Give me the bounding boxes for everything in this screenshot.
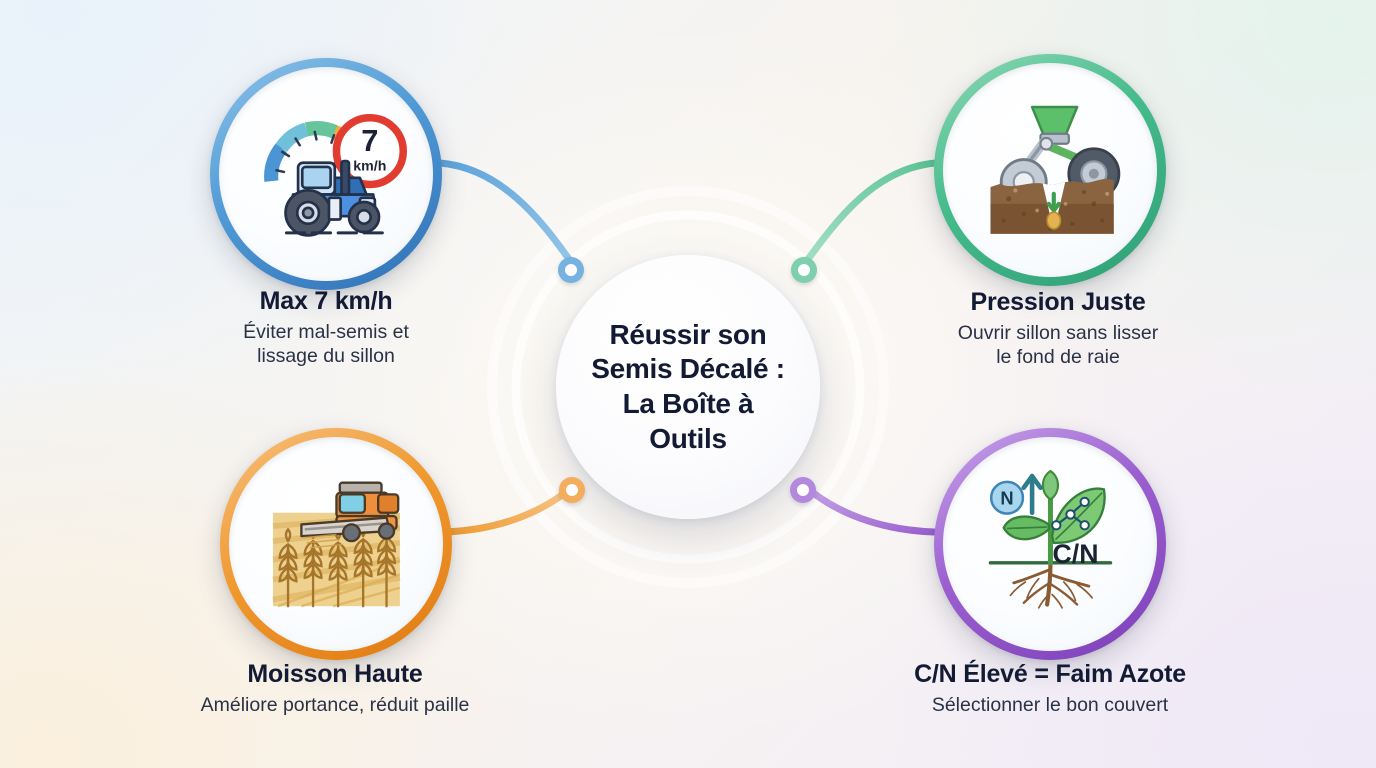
node-subtitle: Éviter mal-semis et lissage du sillon: [156, 320, 496, 369]
label-pression-juste: Pression Juste Ouvrir sillon sans lisser…: [888, 288, 1228, 370]
node-subtitle-line: Améliore portance, réduit paille: [160, 693, 510, 717]
node-ring-inner: [229, 437, 443, 651]
connector-node-dot: [566, 484, 578, 496]
node-cn-eleve[interactable]: N C/N: [934, 428, 1166, 660]
connector-node-dot: [565, 264, 577, 276]
plant-roots-cn-icon: N C/N: [967, 461, 1134, 628]
connector-node-top-right: [791, 257, 817, 283]
node-subtitle: Ouvrir sillon sans lisser le fond de rai…: [888, 321, 1228, 370]
node-ring-blue: 7 km/h: [210, 58, 442, 290]
node-ring-green: [934, 54, 1166, 286]
node-subtitle-line: Ouvrir sillon sans lisser: [888, 321, 1228, 345]
node-title: C/N Élevé = Faim Azote: [875, 660, 1225, 688]
node-subtitle: Améliore portance, réduit paille: [160, 693, 510, 717]
connector-node-bottom-right: [790, 477, 816, 503]
node-subtitle-line: Sélectionner le bon couvert: [875, 693, 1225, 717]
label-max-7-kmh: Max 7 km/h Éviter mal-semis et lissage d…: [156, 287, 496, 369]
nitrogen-badge-letter: N: [1000, 487, 1013, 508]
node-ring-purple: N C/N: [934, 428, 1166, 660]
node-title: Moisson Haute: [160, 660, 510, 688]
cn-ratio-label: C/N: [1052, 538, 1098, 568]
seed-drill-furrow-icon: [967, 87, 1134, 254]
node-subtitle: Sélectionner le bon couvert: [875, 693, 1225, 717]
infographic-canvas: Réussir son Semis Décalé : La Boîte à Ou…: [0, 0, 1376, 768]
node-title: Max 7 km/h: [156, 287, 496, 315]
connector-node-dot: [797, 484, 809, 496]
node-ring-orange: [220, 428, 452, 660]
connector-node-bottom-left: [559, 477, 585, 503]
node-ring-inner: 7 km/h: [219, 67, 433, 281]
node-title: Pression Juste: [888, 288, 1228, 316]
center-title: Réussir son Semis Décalé : La Boîte à Ou…: [591, 318, 784, 457]
label-cn-eleve: C/N Élevé = Faim Azote Sélectionner le b…: [875, 660, 1225, 717]
node-pression-juste[interactable]: [934, 54, 1166, 286]
connector-node-dot: [798, 264, 810, 276]
node-moisson-haute[interactable]: [220, 428, 452, 660]
combine-harvester-wheat-icon: [253, 461, 420, 628]
center-hub: Réussir son Semis Décalé : La Boîte à Ou…: [556, 255, 820, 519]
label-moisson-haute: Moisson Haute Améliore portance, réduit …: [160, 660, 510, 717]
svg-text:7: 7: [361, 123, 378, 158]
connector-node-top-left: [558, 257, 584, 283]
node-subtitle-line: lissage du sillon: [156, 344, 496, 368]
node-ring-inner: N C/N: [943, 437, 1157, 651]
node-subtitle-line: Éviter mal-semis et: [156, 320, 496, 344]
node-ring-inner: [943, 63, 1157, 277]
tractor-speedometer-icon: 7 km/h: [243, 91, 410, 258]
node-max-7-kmh[interactable]: 7 km/h: [210, 58, 442, 290]
node-subtitle-line: le fond de raie: [888, 345, 1228, 369]
svg-text:km/h: km/h: [353, 158, 386, 174]
